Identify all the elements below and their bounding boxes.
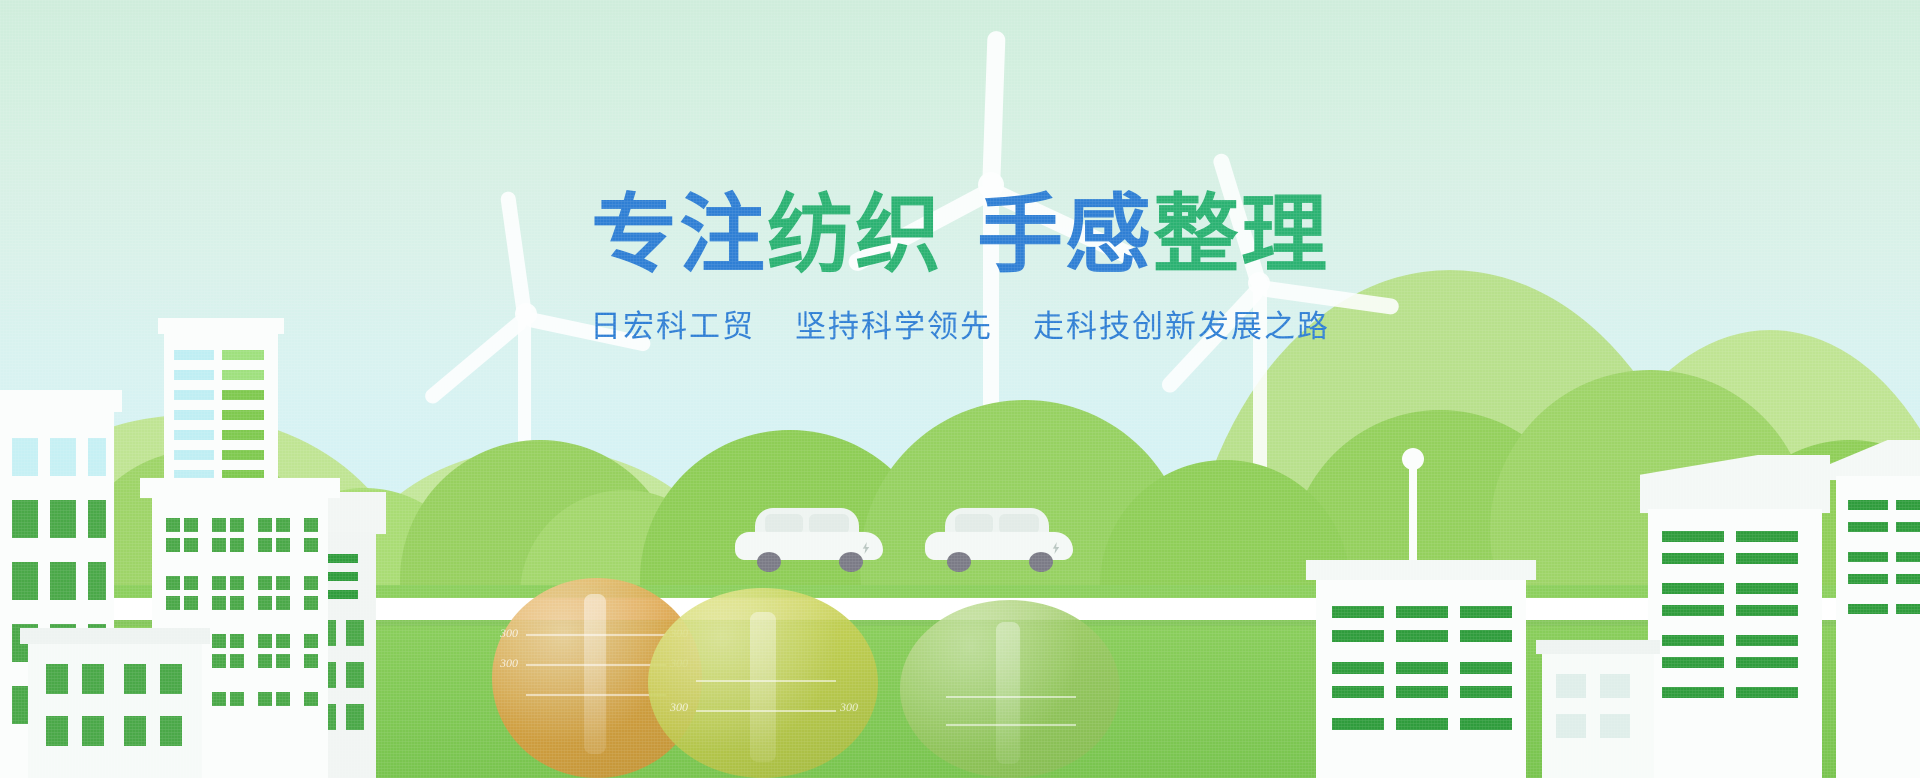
headline-segment-4: 感 [1065, 192, 1153, 278]
page-title: 专注纺织手感整理 [0, 192, 1920, 278]
hero-banner: 300 300 300 300 300 300 专注纺织手感整理 日宏科工贸坚持… [0, 0, 1920, 778]
headline-segment-2: 纺织 [767, 192, 943, 278]
subtitle-part-2: 坚持科学领先 [795, 310, 993, 344]
headline-segment-1: 专注 [591, 192, 767, 278]
headline-segment-3: 手 [977, 192, 1065, 278]
subtitle-part-3: 走科技创新发展之路 [1033, 310, 1330, 344]
page-subtitle: 日宏科工贸坚持科学领先走科技创新发展之路 [0, 310, 1920, 344]
headline-segment-5: 整理 [1153, 192, 1329, 278]
subtitle-part-1: 日宏科工贸 [590, 310, 755, 344]
